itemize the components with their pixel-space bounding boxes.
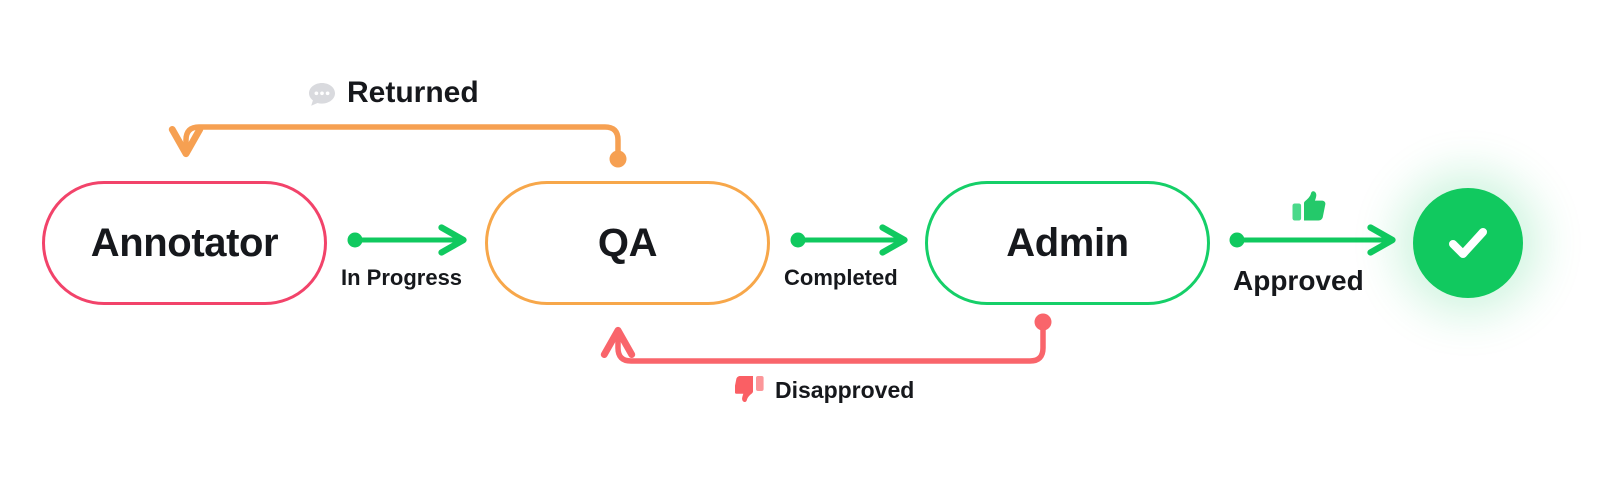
check-icon — [1438, 213, 1498, 273]
node-success-circle[interactable] — [1413, 188, 1523, 298]
edge-approved — [1230, 233, 1392, 248]
node-admin-label: Admin — [1006, 223, 1128, 263]
workflow-diagram: Annotator QA Admin In Progress Completed… — [0, 0, 1600, 500]
edge-label-in-progress: In Progress — [341, 267, 462, 289]
thumbs-up-icon — [1291, 190, 1327, 224]
edge-label-disapproved: Disapproved — [775, 379, 914, 402]
edge-path — [186, 127, 618, 155]
speech-bubble-icon — [307, 80, 337, 110]
node-annotator[interactable]: Annotator — [42, 181, 327, 305]
edge-disapproved — [618, 314, 1052, 362]
edge-start-dot — [791, 233, 806, 248]
edge-start-dot — [610, 151, 627, 168]
edge-in-progress — [348, 233, 463, 248]
edge-path — [618, 326, 1043, 361]
edge-start-dot — [1230, 233, 1245, 248]
edge-start-dot — [1035, 314, 1052, 331]
edge-start-dot — [348, 233, 363, 248]
node-admin[interactable]: Admin — [925, 181, 1210, 305]
edge-completed — [791, 233, 904, 248]
edge-label-returned: Returned — [347, 78, 479, 108]
node-annotator-label: Annotator — [91, 223, 278, 263]
thumbs-down-icon — [735, 375, 767, 405]
node-qa[interactable]: QA — [485, 181, 770, 305]
edge-label-completed: Completed — [784, 267, 898, 289]
node-qa-label: QA — [598, 223, 657, 263]
edge-label-approved: Approved — [1233, 267, 1364, 295]
edge-returned — [186, 127, 627, 168]
